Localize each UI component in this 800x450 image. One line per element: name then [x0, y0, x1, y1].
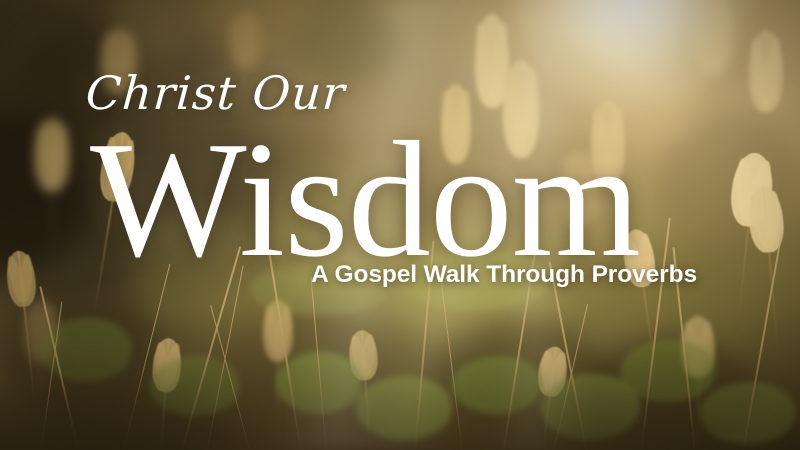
foreground-blur-layer	[0, 300, 800, 450]
title-slide: Christ Our Wisdom A Gospel Walk Through …	[0, 0, 800, 450]
background-photograph	[0, 0, 800, 450]
